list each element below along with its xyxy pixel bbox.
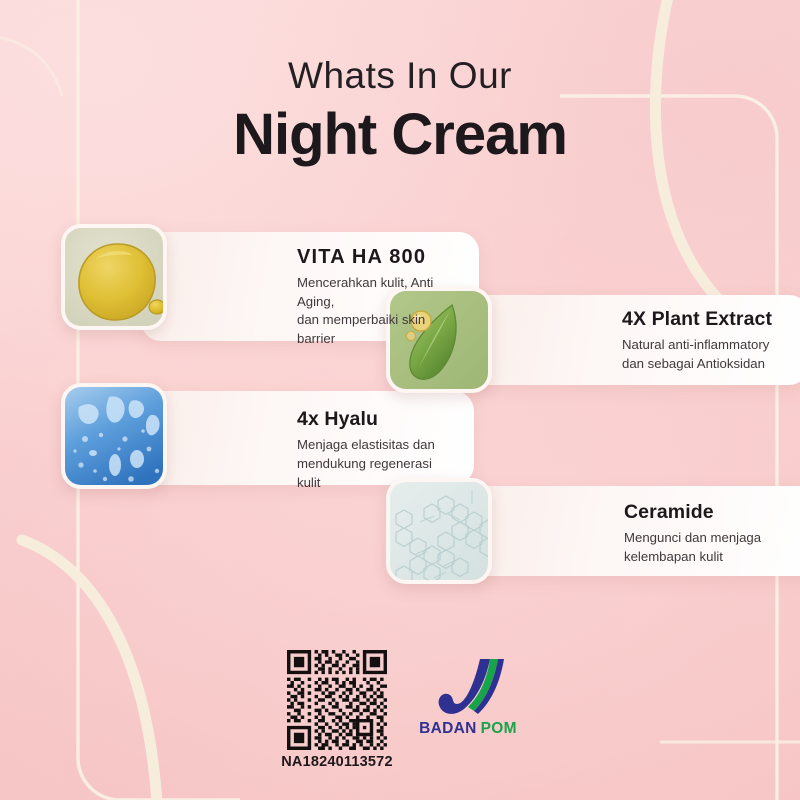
ingredient-card-ceramide[interactable]: Ceramide Mengunci dan menjaga kelembapan… [386, 478, 792, 584]
card-text: 4x Hyalu Menjaga elastisitas dan menduku… [167, 383, 457, 493]
registration-number: NA18240113572 [278, 754, 396, 770]
card-text: 4X Plant Extract Natural anti-inflammato… [492, 287, 792, 393]
badan-pom-swoosh-icon [430, 657, 506, 719]
desc-line-2: mendukung regenerasi kulit [297, 455, 457, 492]
page-header: Whats In Our Night Cream [0, 56, 800, 168]
ingredient-description: Natural anti-inflammatory dan sebagai An… [622, 336, 792, 373]
ingredient-title: VITA HA 800 [297, 246, 467, 268]
hexagon-molecule-icon [386, 478, 492, 584]
card-text: Ceramide Mengunci dan menjaga kelembapan… [492, 478, 792, 584]
ingredient-description: Menjaga elastisitas dan mendukung regene… [297, 436, 457, 492]
ingredient-card-hyalu[interactable]: 4x Hyalu Menjaga elastisitas dan menduku… [61, 383, 457, 493]
desc-line-1: Mencerahkan kulit, Anti Aging, [297, 274, 467, 311]
blue-water-droplets-icon [61, 383, 167, 489]
desc-line-2: dan sebagai Antioksidan [622, 355, 792, 374]
ingredient-card-vita-ha-800[interactable]: VITA HA 800 Mencerahkan kulit, Anti Agin… [61, 224, 467, 349]
desc-line-1: Natural anti-inflammatory [622, 336, 792, 355]
ingredient-description: Mencerahkan kulit, Anti Aging, dan mempe… [297, 274, 467, 349]
page-title: Night Cream [0, 103, 800, 168]
desc-line-2: dan memperbaiki skin barrier [297, 311, 467, 348]
qr-code-icon[interactable] [287, 650, 387, 750]
bpom-wordmark: BADANPOM [413, 720, 523, 738]
ingredient-title: 4X Plant Extract [622, 309, 792, 330]
header-subtitle: Whats In Our [0, 56, 800, 97]
desc-line-1: Mengunci dan menjaga [624, 529, 792, 548]
desc-line-1: Menjaga elastisitas dan [297, 436, 457, 455]
ingredient-description: Mengunci dan menjaga kelembapan kulit [624, 529, 792, 566]
yellow-oil-drop-icon [61, 224, 167, 330]
badan-pom-logo: BADANPOM [413, 657, 523, 738]
desc-line-2: kelembapan kulit [624, 548, 792, 567]
ingredient-title: 4x Hyalu [297, 409, 457, 430]
ingredient-title: Ceramide [624, 502, 792, 523]
bpom-word-pom: POM [481, 720, 517, 737]
bpom-word-badan: BADAN [419, 720, 476, 737]
card-text: VITA HA 800 Mencerahkan kulit, Anti Agin… [167, 224, 467, 349]
qr-section: NA18240113572 [287, 650, 396, 770]
